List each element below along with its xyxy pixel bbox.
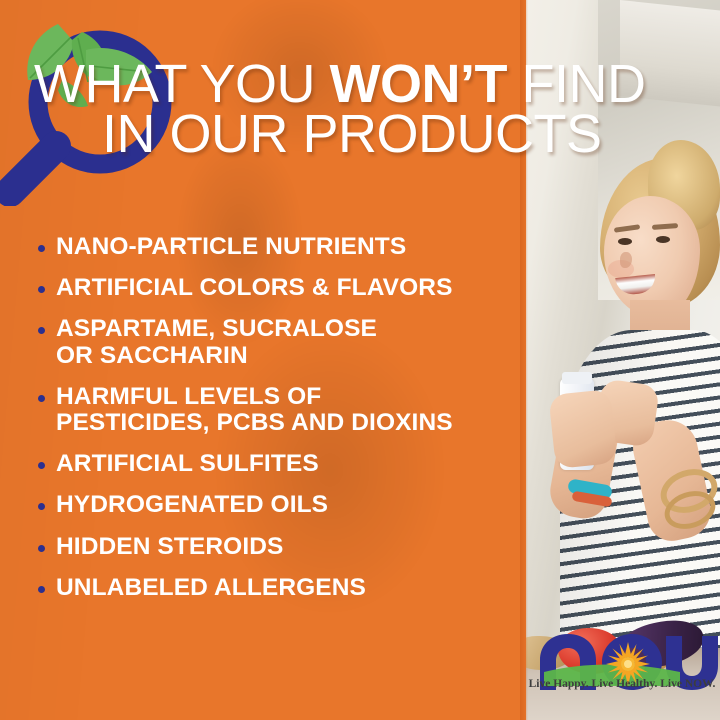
photo-hand-lower bbox=[548, 389, 617, 469]
list-item: HARMFUL LEVELS OF PESTICIDES, PCBS AND D… bbox=[38, 384, 518, 436]
list-item: ASPARTAME, SUCRALOSE OR SACCHARIN bbox=[38, 316, 518, 368]
poster: WHAT YOU WON’T FIND IN OUR PRODUCTS NANO… bbox=[0, 0, 720, 720]
list-item: ARTIFICIAL SULFITES bbox=[38, 451, 518, 477]
bullet-dot-icon bbox=[38, 586, 45, 593]
list-item: UNLABELED ALLERGENS bbox=[38, 575, 518, 601]
bullet-dot-icon bbox=[38, 395, 45, 402]
bullet-dot-icon bbox=[38, 462, 45, 469]
list-item-label: HIDDEN STEROIDS bbox=[56, 534, 283, 560]
photo-eye-right bbox=[656, 236, 670, 243]
bullet-dot-icon bbox=[38, 327, 45, 334]
list-item-label: ARTIFICIAL COLORS & FLAVORS bbox=[56, 275, 453, 301]
bullet-dot-icon bbox=[38, 545, 45, 552]
brand-tagline: Live Happy. Live Healthy. Live NOW. bbox=[524, 678, 720, 690]
list-item: HYDROGENATED OILS bbox=[38, 492, 518, 518]
list-item-label: NANO-PARTICLE NUTRIENTS bbox=[56, 234, 406, 260]
list-item: NANO-PARTICLE NUTRIENTS bbox=[38, 234, 518, 260]
list-item: HIDDEN STEROIDS bbox=[38, 534, 518, 560]
page-title: WHAT YOU WON’T FIND IN OUR PRODUCTS bbox=[34, 60, 694, 159]
list-item: ARTIFICIAL COLORS & FLAVORS bbox=[38, 275, 518, 301]
headline-line-1: WHAT YOU WON’T FIND bbox=[34, 60, 694, 110]
bullet-dot-icon bbox=[38, 503, 45, 510]
bullet-dot-icon bbox=[38, 245, 45, 252]
list-item-label: UNLABELED ALLERGENS bbox=[56, 575, 366, 601]
exclusions-list: NANO-PARTICLE NUTRIENTS ARTIFICIAL COLOR… bbox=[38, 234, 518, 616]
list-item-label: HYDROGENATED OILS bbox=[56, 492, 328, 518]
photo-bottle-cap bbox=[562, 372, 592, 384]
list-item-label: ASPARTAME, SUCRALOSE OR SACCHARIN bbox=[56, 316, 377, 368]
headline-line-2: IN OUR PRODUCTS bbox=[34, 110, 694, 160]
list-item-label: HARMFUL LEVELS OF PESTICIDES, PCBS AND D… bbox=[56, 384, 453, 436]
list-item-label: ARTIFICIAL SULFITES bbox=[56, 451, 319, 477]
photo-eye-left bbox=[618, 238, 632, 245]
bullet-dot-icon bbox=[38, 286, 45, 293]
